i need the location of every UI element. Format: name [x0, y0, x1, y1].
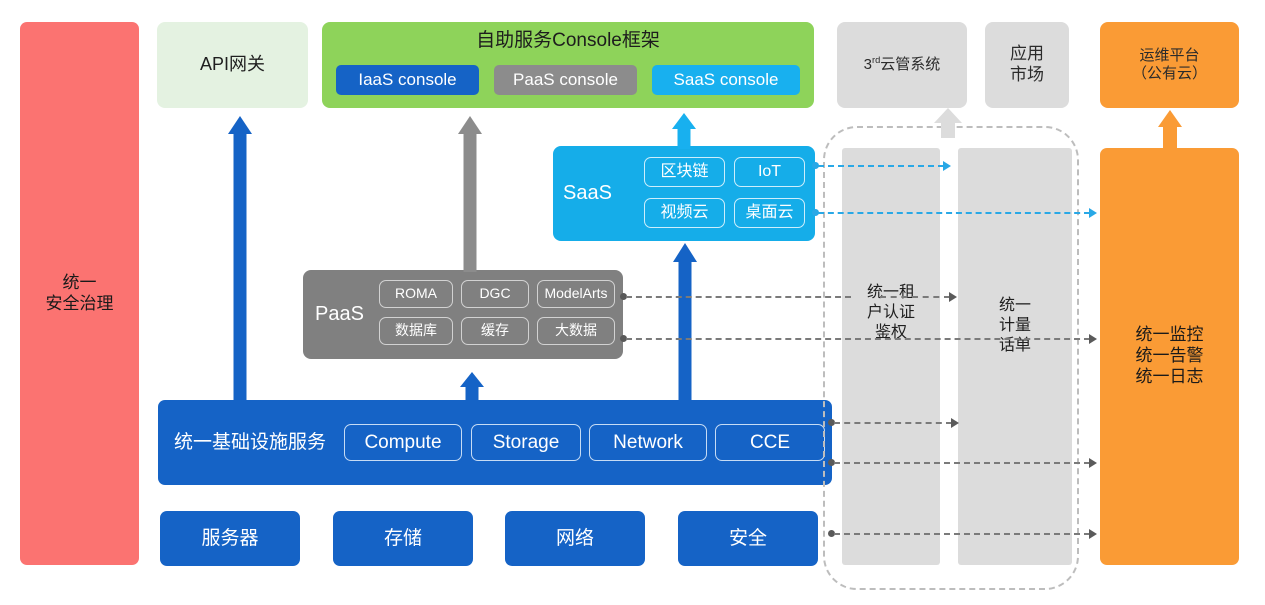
connector-paas-to-ops — [626, 338, 1090, 340]
column-unified-metering: 统一 计量 话单 — [958, 148, 1072, 565]
chip-paas-console[interactable]: PaaS console — [494, 65, 637, 95]
box-ops-platform-public-cloud-label: 运维平台 （公有云） — [1132, 47, 1207, 84]
column-unified-metering-label: 统一 计量 话单 — [958, 296, 1072, 356]
paas-item-database[interactable]: 数据库 — [379, 317, 453, 345]
arrowhead-paas-to-ops — [1089, 334, 1097, 344]
arrow-ops-panel-to-ops-top — [1154, 110, 1186, 150]
arrow-zone-to-third-party-cloud — [931, 108, 965, 138]
box-unified-infrastructure-service-label: 统一基础设施服务 — [174, 400, 326, 485]
connector-infra-to-auth — [834, 422, 952, 424]
architecture-diagram: 统一 安全治理 API网关 自助服务Console框架 IaaS console… — [0, 0, 1265, 605]
paas-item-roma[interactable]: ROMA — [379, 280, 453, 308]
connector-infra-to-ops — [834, 462, 1090, 464]
connector-paas-to-auth — [626, 296, 851, 298]
box-hardware-server[interactable]: 服务器 — [160, 511, 300, 566]
box-saas: SaaS 区块链 IoT 视频云 桌面云 — [553, 146, 815, 241]
arrowhead-auth-to-meter — [949, 292, 957, 302]
box-third-party-cloud-management: 3rd云管系统 — [837, 22, 967, 108]
box-ops-platform-public-cloud: 运维平台 （公有云） — [1100, 22, 1239, 108]
paas-item-cache[interactable]: 缓存 — [461, 317, 529, 345]
saas-item-blockchain[interactable]: 区块链 — [644, 157, 725, 187]
infra-item-cce[interactable]: CCE — [715, 424, 825, 461]
saas-item-video-cloud[interactable]: 视频云 — [644, 198, 725, 228]
box-api-gateway: API网关 — [157, 22, 308, 108]
panel-unified-security: 统一 安全治理 — [20, 22, 139, 565]
box-hardware-storage[interactable]: 存储 — [333, 511, 473, 566]
paas-item-bigdata[interactable]: 大数据 — [537, 317, 615, 345]
arrow-infra-to-paas — [456, 372, 488, 402]
arrowhead-saas-to-ops — [1089, 208, 1097, 218]
panel-unified-monitoring-label: 统一监控 统一告警 统一日志 — [1136, 325, 1204, 387]
box-paas-label: PaaS — [315, 270, 364, 359]
connector-saas-to-ops — [818, 212, 1090, 214]
connector-bottom-to-ops — [834, 533, 1090, 535]
box-saas-label: SaaS — [563, 146, 612, 241]
arrowhead-infra-to-ops — [1089, 458, 1097, 468]
infra-item-storage[interactable]: Storage — [471, 424, 581, 461]
saas-item-desktop-cloud[interactable]: 桌面云 — [734, 198, 805, 228]
saas-item-iot[interactable]: IoT — [734, 157, 805, 187]
chip-saas-console[interactable]: SaaS console — [652, 65, 800, 95]
infra-item-compute[interactable]: Compute — [344, 424, 462, 461]
box-console-framework: 自助服务Console框架 IaaS console PaaS console … — [322, 22, 814, 108]
arrowhead-bottom-to-ops — [1089, 529, 1097, 539]
arrow-infra-to-api-gateway — [224, 116, 256, 402]
arrow-paas-to-console — [454, 116, 486, 272]
paas-item-dgc[interactable]: DGC — [461, 280, 529, 308]
paas-item-modelarts[interactable]: ModelArts — [537, 280, 615, 308]
arrowhead-saas-to-auth — [943, 161, 951, 171]
console-framework-title: 自助服务Console框架 — [322, 29, 814, 52]
box-hardware-security[interactable]: 安全 — [678, 511, 818, 566]
box-app-market: 应用 市场 — [985, 22, 1069, 108]
chip-iaas-console[interactable]: IaaS console — [336, 65, 479, 95]
arrowhead-infra-to-auth — [951, 418, 959, 428]
box-hardware-network[interactable]: 网络 — [505, 511, 645, 566]
box-third-party-cloud-management-label: 3rd云管系统 — [864, 55, 941, 74]
connector-saas-to-auth — [818, 165, 944, 167]
box-app-market-label: 应用 市场 — [1010, 44, 1044, 85]
box-api-gateway-label: API网关 — [200, 54, 265, 76]
panel-unified-security-label: 统一 安全治理 — [46, 273, 114, 314]
connector-auth-to-meter — [880, 296, 950, 298]
column-unified-tenant-auth-label: 统一租 户认证 鉴权 — [842, 283, 940, 343]
infra-item-network[interactable]: Network — [589, 424, 707, 461]
box-paas: PaaS ROMA DGC ModelArts 数据库 缓存 大数据 — [303, 270, 623, 359]
box-unified-infrastructure-service: 统一基础设施服务 Compute Storage Network CCE — [158, 400, 832, 485]
arrow-infra-to-saas — [669, 243, 701, 402]
column-unified-tenant-auth: 统一租 户认证 鉴权 — [842, 148, 940, 565]
arrow-saas-to-console — [668, 113, 700, 149]
panel-unified-monitoring: 统一监控 统一告警 统一日志 — [1100, 148, 1239, 565]
